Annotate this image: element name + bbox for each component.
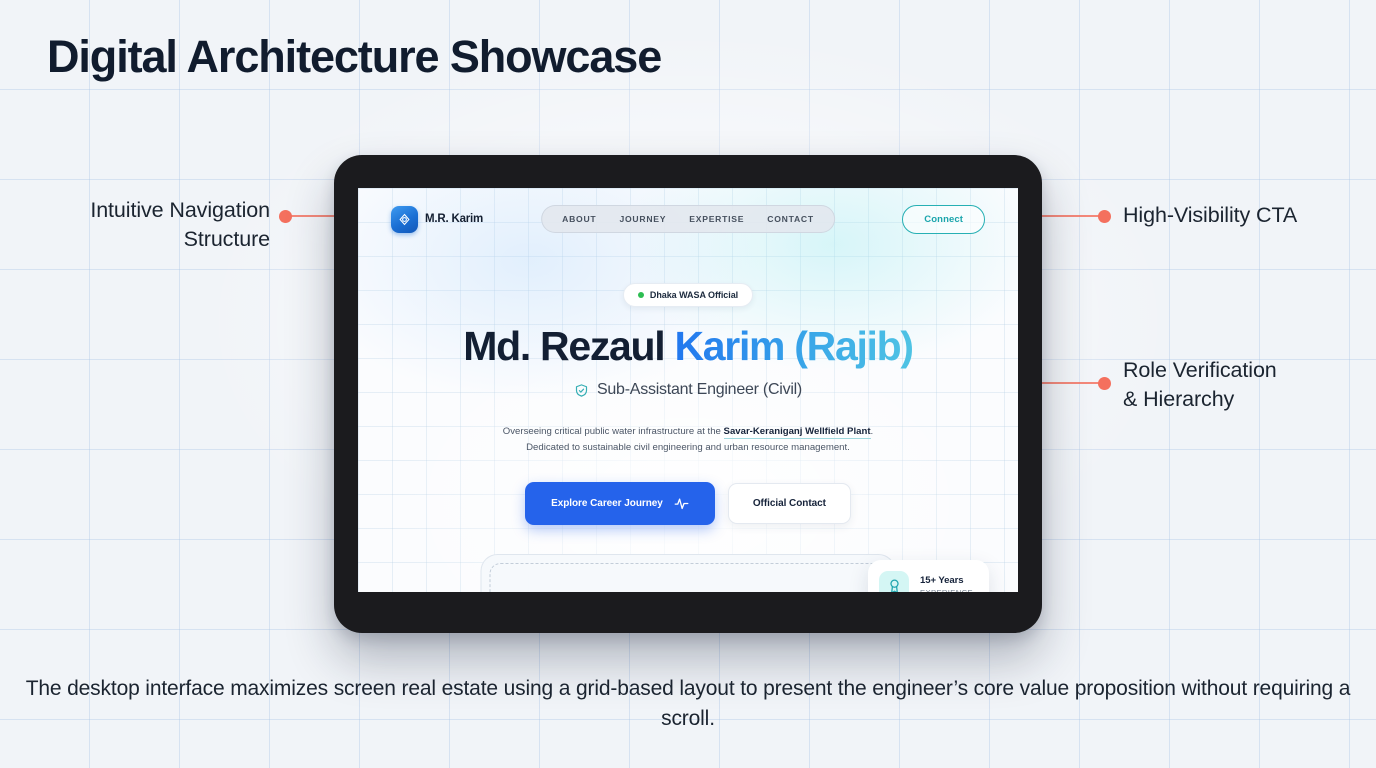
hero-title: Md. Rezaul Karim (Rajib) — [463, 326, 912, 367]
nav-item-journey[interactable]: JOURNEY — [619, 214, 666, 224]
annotation-line-2: Structure — [40, 225, 270, 254]
hero-description-text-1: Overseeing critical public water infrast… — [503, 426, 724, 437]
annotation-label-cta: High-Visibility CTA — [1123, 201, 1373, 230]
tablet-device-frame: M.R. Karim ABOUT JOURNEY EXPERTISE CONTA… — [334, 155, 1042, 633]
tablet-screen: M.R. Karim ABOUT JOURNEY EXPERTISE CONTA… — [358, 188, 1018, 592]
hero-cta-row: Explore Career Journey Official Contact — [525, 482, 851, 525]
nav-menu-pill: ABOUT JOURNEY EXPERTISE CONTACT — [541, 205, 835, 233]
experience-label: EXPERIENCE — [920, 588, 973, 592]
hero-role-row: Sub-Assistant Engineer (Civil) — [574, 381, 802, 399]
nav-item-about[interactable]: ABOUT — [562, 214, 596, 224]
status-dot-icon — [638, 292, 644, 298]
diamond-logo-icon — [391, 206, 418, 233]
cta-primary-label: Explore Career Journey — [551, 498, 663, 509]
annotation-dot-role — [1098, 377, 1111, 390]
explore-career-journey-button[interactable]: Explore Career Journey — [525, 482, 715, 525]
brand-name-label: M.R. Karim — [425, 213, 483, 225]
annotation-line-1: Intuitive Navigation — [40, 196, 270, 225]
hero-description: Overseeing critical public water infrast… — [503, 424, 873, 456]
nav-item-contact[interactable]: CONTACT — [767, 214, 814, 224]
experience-years: 15+ Years — [920, 575, 973, 586]
annotation-label-navigation: Intuitive Navigation Structure — [40, 196, 270, 254]
annotation-line-2: & Hierarchy — [1123, 385, 1373, 414]
status-badge-label: Dhaka WASA Official — [650, 290, 738, 300]
hero-section: Dhaka WASA Official Md. Rezaul Karim (Ra… — [358, 283, 1018, 525]
shield-check-icon — [574, 383, 589, 398]
activity-pulse-icon — [674, 496, 689, 511]
annotation-line-1: Role Verification — [1123, 356, 1373, 385]
award-ribbon-icon — [879, 571, 909, 592]
hero-title-accent: Karim (Rajib) — [674, 323, 912, 369]
page-title: Digital Architecture Showcase — [47, 31, 661, 83]
hero-description-line-1: Overseeing critical public water infrast… — [503, 424, 873, 440]
content-preview-card-dashed-outline — [490, 563, 887, 592]
annotation-dot-cta — [1098, 210, 1111, 223]
connect-button[interactable]: Connect — [902, 205, 985, 234]
experience-text-group: 15+ Years EXPERIENCE — [920, 575, 973, 592]
nav-item-expertise[interactable]: EXPERTISE — [689, 214, 744, 224]
annotation-line-1: High-Visibility CTA — [1123, 201, 1373, 230]
brand-logo-group[interactable]: M.R. Karim — [391, 206, 483, 233]
hero-description-highlight: Savar-Keraniganj Wellfield Plant — [724, 426, 871, 439]
official-contact-button[interactable]: Official Contact — [728, 483, 851, 524]
annotation-label-role: Role Verification & Hierarchy — [1123, 356, 1373, 414]
experience-badge-card: 15+ Years EXPERIENCE — [868, 560, 989, 592]
content-preview-card — [481, 554, 896, 592]
status-badge: Dhaka WASA Official — [623, 283, 753, 307]
hero-description-text-2: . — [871, 426, 874, 437]
hero-title-primary: Md. Rezaul — [463, 323, 674, 369]
hero-role-label: Sub-Assistant Engineer (Civil) — [597, 381, 802, 399]
site-navigation-bar: M.R. Karim ABOUT JOURNEY EXPERTISE CONTA… — [358, 200, 1018, 238]
figure-caption: The desktop interface maximizes screen r… — [0, 674, 1376, 734]
hero-description-line-2: Dedicated to sustainable civil engineeri… — [503, 440, 873, 456]
